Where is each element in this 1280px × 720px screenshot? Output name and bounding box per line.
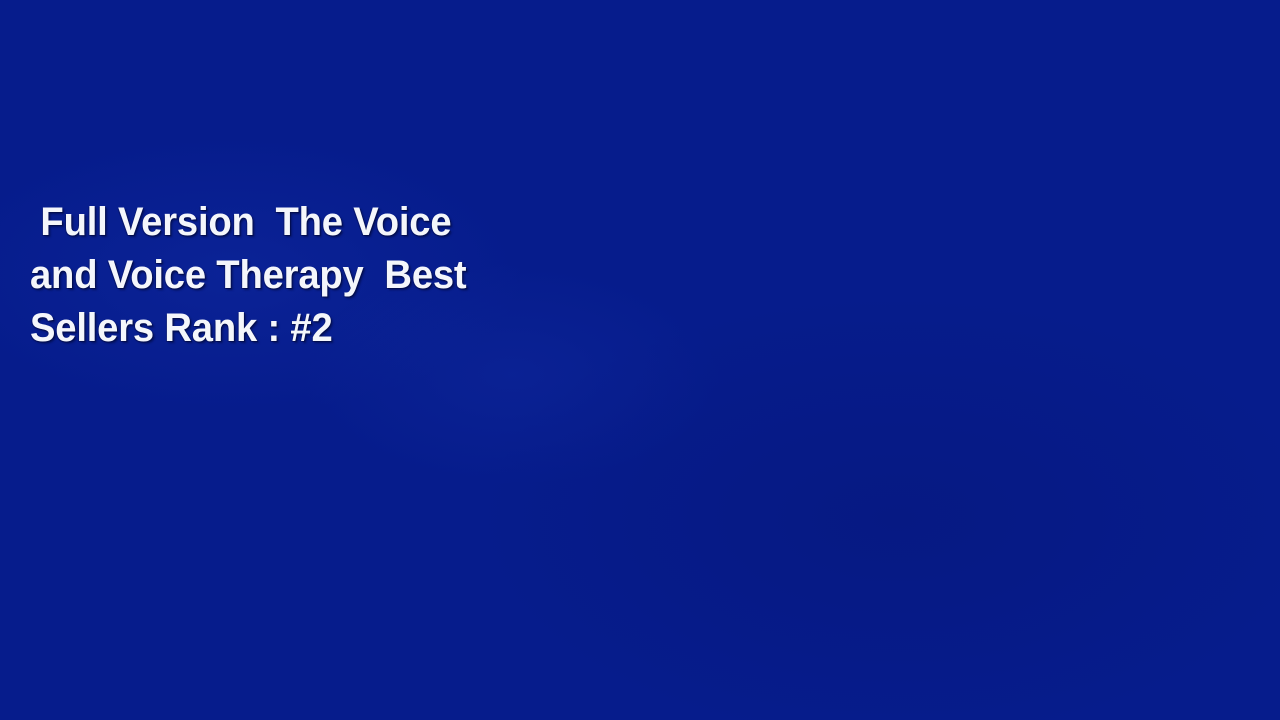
video-frame: Full Version The Voice and Voice Therapy… xyxy=(0,0,1280,720)
overlay-line-3: Sellers Rank : #2 xyxy=(30,302,660,355)
overlay-line-2: and Voice Therapy Best xyxy=(30,249,660,302)
overlay-text-block: Full Version The Voice and Voice Therapy… xyxy=(30,196,690,355)
overlay-line-1: Full Version The Voice xyxy=(30,196,660,249)
